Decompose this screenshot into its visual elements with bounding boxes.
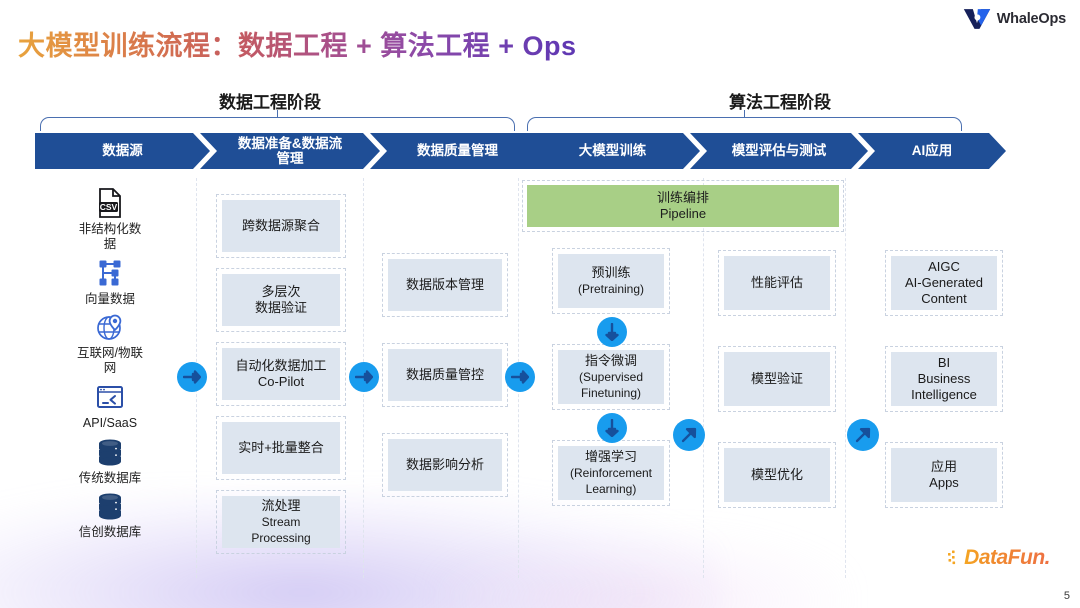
- card-line-0: 实时+批量整合: [238, 440, 324, 455]
- data-source-label-0: 非结构化数据: [75, 222, 145, 252]
- data-source-label-1: 向量数据: [85, 292, 135, 307]
- process-step-0[interactable]: 数据源: [35, 133, 210, 169]
- column-separator-4: [703, 178, 704, 578]
- card-line-0: 数据质量管控: [406, 367, 484, 382]
- process-step-3[interactable]: 大模型训练: [525, 133, 700, 169]
- card-body: 数据质量管控: [388, 349, 502, 401]
- datafun-dots-icon: [948, 549, 962, 567]
- training-column: 预训练 (Pretraining) 指令微调 (Supervised Finet…: [552, 248, 670, 506]
- card[interactable]: 数据影响分析: [382, 433, 508, 497]
- training-pipeline-body: 训练编排 Pipeline: [527, 185, 839, 227]
- card-line-1: (Reinforcement: [570, 466, 652, 480]
- terminal-window-icon: [95, 380, 125, 414]
- data-source-item-0[interactable]: CSV 非结构化数据: [40, 186, 180, 252]
- card-body: 应用 Apps: [891, 448, 997, 502]
- data-quality-column: 数据版本管理 数据质量管控 数据影响分析: [382, 253, 508, 497]
- card-line-1: AI-Generated: [905, 275, 983, 290]
- bracket-tick-data-engineering: [277, 110, 278, 118]
- card-body: 流处理 Stream Processing: [222, 496, 340, 548]
- card-body: 多层次 数据验证: [222, 274, 340, 326]
- card-line-1: 数据验证: [255, 300, 307, 315]
- card-line-0: 跨数据源聚合: [242, 218, 320, 233]
- process-step-4-line1: 模型评估与测试: [732, 143, 827, 158]
- card-body: 模型优化: [724, 448, 830, 502]
- card-line-0: 自动化数据加工: [235, 358, 326, 373]
- card-line-2: Intelligence: [911, 387, 977, 402]
- card-body: 模型验证: [724, 352, 830, 406]
- decorative-glow-right: [430, 528, 850, 608]
- card-body: 增强学习 (Reinforcement Learning): [558, 446, 664, 500]
- column-separator-5: [845, 178, 846, 578]
- bracket-algo-engineering: [527, 117, 962, 131]
- arrow-right-circle-icon[interactable]: [177, 362, 207, 392]
- pipeline-line2: Pipeline: [660, 206, 706, 222]
- process-step-1-line1: 数据准备&数据流: [238, 136, 342, 151]
- card-line-0: AIGC: [928, 259, 960, 274]
- whale-w-mark-icon: [963, 7, 991, 31]
- card[interactable]: 流处理 Stream Processing: [216, 490, 346, 554]
- card-line-0: BI: [938, 355, 950, 370]
- card[interactable]: 模型优化: [718, 442, 836, 508]
- card[interactable]: BI Business Intelligence: [885, 346, 1003, 412]
- card[interactable]: 性能评估: [718, 250, 836, 316]
- card-line-0: 应用: [931, 459, 957, 474]
- card-body: 数据版本管理: [388, 259, 502, 311]
- card[interactable]: 预训练 (Pretraining): [552, 248, 670, 314]
- card-body: 跨数据源聚合: [222, 200, 340, 252]
- arrow-diagonal-circle-icon[interactable]: [673, 419, 705, 451]
- card-line-0: 性能评估: [751, 275, 803, 290]
- card-body: 自动化数据加工 Co-Pilot: [222, 348, 340, 400]
- card-line-2: Learning): [586, 482, 637, 496]
- card-body: 指令微调 (Supervised Finetuning): [558, 350, 664, 404]
- arrow-right-circle-icon[interactable]: [349, 362, 379, 392]
- card[interactable]: 自动化数据加工 Co-Pilot: [216, 342, 346, 406]
- phase-label-algo-engineering: 算法工程阶段: [695, 88, 865, 113]
- vector-graph-icon: [95, 256, 125, 290]
- bracket-data-engineering: [40, 117, 515, 131]
- process-chevron-bar: 数据源 数据准备&数据流 管理 数据质量管理 大模型训练 模型评估与测试 AI应…: [0, 133, 1080, 169]
- page-number: 5: [1064, 590, 1070, 602]
- arrow-down-circle-icon[interactable]: [597, 413, 627, 443]
- card-line-1: Co-Pilot: [258, 374, 304, 389]
- process-step-1-line2: 管理: [238, 151, 342, 166]
- card-line-2: Processing: [251, 531, 310, 545]
- data-source-label-5: 信创数据库: [79, 525, 142, 540]
- process-step-4[interactable]: 模型评估与测试: [690, 133, 868, 169]
- globe-location-icon: [95, 310, 125, 344]
- card-line-0: 多层次: [261, 284, 300, 299]
- pipeline-line1: 训练编排: [657, 190, 709, 206]
- card-line-0: 增强学习: [585, 449, 637, 464]
- datafun-wordmark: DataFun.: [964, 546, 1050, 570]
- card[interactable]: 模型验证: [718, 346, 836, 412]
- card-line-0: 模型验证: [751, 371, 803, 386]
- card-line-2: Finetuning): [581, 386, 641, 400]
- card-body: 预训练 (Pretraining): [558, 254, 664, 308]
- data-source-label-3: API/SaaS: [83, 416, 137, 431]
- data-source-label-4: 传统数据库: [79, 471, 142, 486]
- data-source-column: CSV 非结构化数据: [40, 186, 180, 544]
- svg-text:CSV: CSV: [100, 202, 118, 212]
- csv-file-icon: CSV: [97, 186, 123, 220]
- page-title: 大模型训练流程：数据工程 + 算法工程 + Ops: [18, 24, 577, 63]
- training-pipeline-banner[interactable]: 训练编排 Pipeline: [522, 180, 844, 232]
- card[interactable]: 数据质量管控: [382, 343, 508, 407]
- phase-label-data-engineering: 数据工程阶段: [185, 88, 355, 113]
- whaleops-logo: WhaleOps: [963, 7, 1066, 31]
- card[interactable]: 跨数据源聚合: [216, 194, 346, 258]
- card-line-0: 指令微调: [585, 353, 637, 368]
- process-step-5[interactable]: AI应用: [858, 133, 1006, 169]
- card-body: BI Business Intelligence: [891, 352, 997, 406]
- card[interactable]: 应用 Apps: [885, 442, 1003, 508]
- process-step-2-line1: 数据质量管理: [417, 143, 498, 158]
- database-cylinder-icon: [95, 435, 125, 469]
- process-step-1[interactable]: 数据准备&数据流 管理: [200, 133, 380, 169]
- arrow-right-circle-icon[interactable]: [505, 362, 535, 392]
- card[interactable]: 多层次 数据验证: [216, 268, 346, 332]
- ai-apps-column: AIGC AI-Generated Content BI Business In…: [885, 250, 1003, 508]
- card-line-1: Business: [918, 371, 971, 386]
- card-body: AIGC AI-Generated Content: [891, 256, 997, 310]
- data-source-label-2: 互联网/物联网: [75, 346, 145, 376]
- evaluation-column: 性能评估 模型验证 模型优化: [718, 250, 836, 508]
- process-step-3-line1: 大模型训练: [579, 143, 647, 158]
- card-line-0: 预训练: [591, 265, 630, 280]
- card-line-1: (Pretraining): [578, 282, 644, 296]
- process-step-0-line1: 数据源: [102, 143, 143, 158]
- card-line-1: Stream: [262, 515, 301, 529]
- database-cylinder-icon: [95, 489, 125, 523]
- card-line-1: Apps: [929, 475, 959, 490]
- data-source-item-1[interactable]: 向量数据: [40, 256, 180, 307]
- arrow-down-circle-icon[interactable]: [597, 317, 627, 347]
- process-step-2[interactable]: 数据质量管理: [370, 133, 545, 169]
- card-body: 性能评估: [724, 256, 830, 310]
- card-body: 实时+批量整合: [222, 422, 340, 474]
- card-line-0: 数据影响分析: [406, 457, 484, 472]
- card-line-0: 模型优化: [751, 467, 803, 482]
- card[interactable]: AIGC AI-Generated Content: [885, 250, 1003, 316]
- bracket-tick-algo-engineering: [744, 110, 745, 118]
- card-line-2: Content: [921, 291, 967, 306]
- data-source-item-3[interactable]: API/SaaS: [40, 380, 180, 431]
- process-step-5-line1: AI应用: [912, 143, 953, 158]
- card-line-0: 数据版本管理: [406, 277, 484, 292]
- slide-canvas: WhaleOps 大模型训练流程：数据工程 + 算法工程 + Ops 数据工程阶…: [0, 0, 1080, 608]
- data-source-item-5[interactable]: 信创数据库: [40, 489, 180, 540]
- card-line-1: (Supervised: [579, 370, 643, 384]
- data-source-item-4[interactable]: 传统数据库: [40, 435, 180, 486]
- card-body: 数据影响分析: [388, 439, 502, 491]
- whaleops-wordmark: WhaleOps: [997, 11, 1066, 27]
- card[interactable]: 增强学习 (Reinforcement Learning): [552, 440, 670, 506]
- card[interactable]: 指令微调 (Supervised Finetuning): [552, 344, 670, 410]
- card[interactable]: 实时+批量整合: [216, 416, 346, 480]
- data-source-item-2[interactable]: 互联网/物联网: [40, 310, 180, 376]
- card-line-0: 流处理: [261, 498, 300, 513]
- datafun-logo: DataFun.: [948, 546, 1050, 570]
- arrow-diagonal-circle-icon[interactable]: [847, 419, 879, 451]
- data-prep-column: 跨数据源聚合 多层次 数据验证 自动化数据加工 Co-Pilot 实时+批量整合: [216, 194, 346, 554]
- card[interactable]: 数据版本管理: [382, 253, 508, 317]
